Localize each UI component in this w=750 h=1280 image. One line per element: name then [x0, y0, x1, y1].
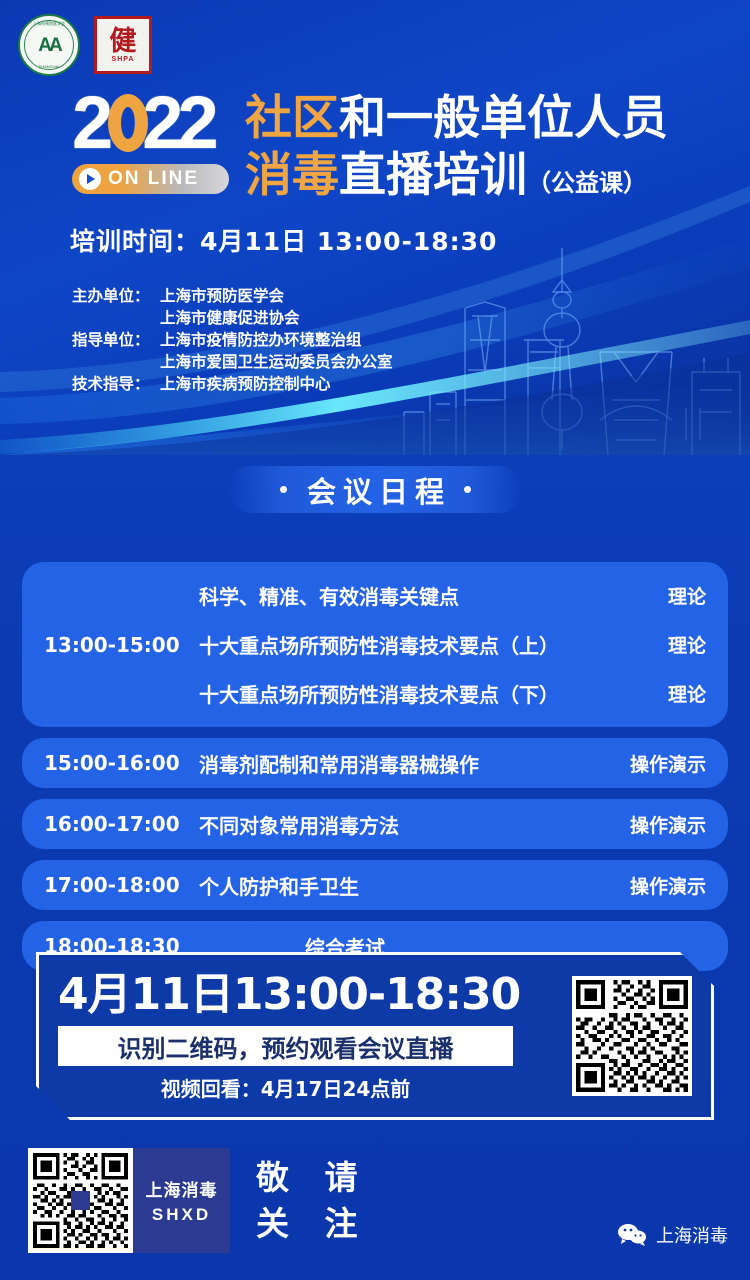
cta-replay-note: 视频回看：4月17日24点前 — [58, 1073, 513, 1102]
headline-line-2: 消毒直播培训（公益课） — [245, 147, 668, 212]
title-dot-right-icon — [464, 486, 471, 493]
schedule-topic: 十大重点场所预防性消毒技术要点（下） — [199, 679, 601, 708]
poster-root: 上海市预防医学会 AA SHANGHAI 健 SHPA 2022 ON LINE… — [0, 0, 750, 1280]
schedule-time: 16:00-17:00 — [44, 812, 199, 836]
headline-suffix: （公益课） — [527, 169, 647, 197]
schedule-type: 操作演示 — [601, 750, 706, 777]
online-label: ON LINE — [108, 168, 199, 190]
year-wordmark: 2022 — [72, 88, 237, 158]
schedule-title-text: 会议日程 — [300, 469, 451, 511]
wechat-account-name: 上海消毒 — [656, 1222, 728, 1248]
schedule-section-title: 会议日程 — [228, 466, 523, 513]
organizer-value: 上海市疫情防控办环境整治组 — [160, 329, 362, 351]
organizer-label: 指导单位： — [72, 329, 160, 351]
table-row: 13:00-15:00 十大重点场所预防性消毒技术要点（上） 理论 — [22, 620, 728, 669]
brand-name-en: SHXD — [152, 1205, 211, 1225]
schedule-type: 理论 — [601, 582, 706, 609]
schedule-block: 17:00-18:00 个人防护和手卫生 操作演示 — [22, 860, 728, 910]
cta-scan-text: 识别二维码，预约观看会议直播 — [118, 1029, 454, 1064]
organizer-value: 上海市预防医学会 — [160, 285, 284, 307]
headline-rest-1: 和一般单位人员 — [339, 91, 668, 146]
wechat-account-footer[interactable]: 上海消毒 — [617, 1222, 728, 1248]
schedule-type: 操作演示 — [601, 811, 706, 838]
schedule-time: 17:00-18:00 — [44, 873, 199, 897]
year-orange-zero-overlay — [108, 94, 148, 152]
cta-scan-bar: 识别二维码，预约观看会议直播 — [58, 1026, 513, 1066]
title-dot-left-icon — [280, 486, 287, 493]
organizer-row: 主办单位： 上海市健康促进协会 — [72, 307, 393, 329]
follow-line-1: 敬 请 — [256, 1155, 370, 1201]
table-row: 16:00-17:00 不同对象常用消毒方法 操作演示 — [22, 799, 728, 849]
schedule-time: 13:00-15:00 — [44, 633, 199, 657]
organizer-row: 指导单位： 上海市爱国卫生运动委员会办公室 — [72, 351, 393, 373]
cta-text-column: 4月11日13:00-18:30 识别二维码，预约观看会议直播 视频回看：4月1… — [58, 970, 558, 1102]
table-row: 17:00-18:00 个人防护和手卫生 操作演示 — [22, 860, 728, 910]
organizer-label: 技术指导： — [72, 373, 160, 395]
schedule-block: 科学、精准、有效消毒关键点 理论 13:00-15:00 十大重点场所预防性消毒… — [22, 562, 728, 727]
year-online-badge: 2022 ON LINE — [72, 88, 237, 194]
brand-name-cn: 上海消毒 — [146, 1176, 218, 1201]
schedule-block: 16:00-17:00 不同对象常用消毒方法 操作演示 — [22, 799, 728, 849]
follow-us-text: 敬 请 关 注 — [256, 1155, 370, 1247]
schedule-topic: 消毒剂配制和常用消毒器械操作 — [199, 749, 601, 778]
online-pill: ON LINE — [72, 164, 229, 194]
year-digits: 2022 — [72, 88, 237, 158]
schedule-type: 理论 — [601, 631, 706, 658]
headline-line-1: 社区和一般单位人员 — [245, 90, 668, 147]
wechat-icon — [617, 1223, 647, 1247]
organizer-row: 指导单位： 上海市疫情防控办环境整治组 — [72, 329, 393, 351]
organizer-label: 主办单位： — [72, 285, 160, 307]
headline-highlight-2: 消毒 — [245, 148, 339, 203]
follow-line-2: 关 注 — [256, 1201, 370, 1247]
organizer-value: 上海市疾病预防控制中心 — [160, 373, 331, 395]
schedule-table: 科学、精准、有效消毒关键点 理论 13:00-15:00 十大重点场所预防性消毒… — [22, 562, 728, 982]
play-icon — [79, 168, 101, 190]
seal-inner-ring — [24, 20, 74, 70]
schedule-type: 操作演示 — [601, 872, 706, 899]
organizer-list: 主办单位： 上海市预防医学会 主办单位： 上海市健康促进协会 指导单位： 上海市… — [72, 285, 393, 395]
shxd-brand-badge: 上海消毒 SHXD — [133, 1148, 230, 1253]
schedule-block: 15:00-16:00 消毒剂配制和常用消毒器械操作 操作演示 — [22, 738, 728, 788]
table-row: 15:00-16:00 消毒剂配制和常用消毒器械操作 操作演示 — [22, 738, 728, 788]
wechat-official-account-qr-code[interactable] — [28, 1148, 133, 1253]
footer-follow-block: 上海消毒 SHXD 敬 请 关 注 — [28, 1148, 370, 1253]
organizer-row: 主办单位： 上海市预防医学会 — [72, 285, 393, 307]
headline-rest-2: 直播培训 — [339, 148, 527, 203]
headline-highlight-1: 社区 — [245, 91, 339, 146]
schedule-topic: 个人防护和手卫生 — [199, 871, 601, 900]
table-row: 十大重点场所预防性消毒技术要点（下） 理论 — [22, 669, 728, 718]
poster-headline: 社区和一般单位人员 消毒直播培训（公益课） — [245, 90, 668, 212]
organizer-row: 技术指导： 上海市疾病预防控制中心 — [72, 373, 393, 395]
training-time: 培训时间：4月11日 13:00-18:30 — [70, 222, 497, 258]
seal-bottom-text: SHANGHAI — [20, 64, 78, 69]
live-registration-qr-code[interactable] — [572, 976, 692, 1096]
organizer-value: 上海市爱国卫生运动委员会办公室 — [160, 351, 393, 373]
table-row: 科学、精准、有效消毒关键点 理论 — [22, 571, 728, 620]
schedule-topic: 科学、精准、有效消毒关键点 — [199, 581, 601, 610]
stamp-abbreviation: SHPA — [112, 56, 135, 63]
schedule-time: 15:00-16:00 — [44, 751, 199, 775]
schedule-topic: 十大重点场所预防性消毒技术要点（上） — [199, 630, 601, 659]
schedule-topic: 不同对象常用消毒方法 — [199, 810, 601, 839]
stamp-character: 健 — [110, 28, 137, 55]
cta-datetime: 4月11日13:00-18:30 — [58, 970, 558, 1020]
spma-seal-logo: 上海市预防医学会 AA SHANGHAI — [18, 14, 80, 76]
seal-top-text: 上海市预防医学会 — [20, 21, 78, 27]
organizer-value: 上海市健康促进协会 — [160, 307, 300, 329]
registration-cta-content: 4月11日13:00-18:30 识别二维码，预约观看会议直播 视频回看：4月1… — [36, 952, 714, 1120]
schedule-type: 理论 — [601, 680, 706, 707]
organization-logos: 上海市预防医学会 AA SHANGHAI 健 SHPA — [18, 14, 152, 76]
shpa-stamp-logo: 健 SHPA — [94, 16, 152, 74]
